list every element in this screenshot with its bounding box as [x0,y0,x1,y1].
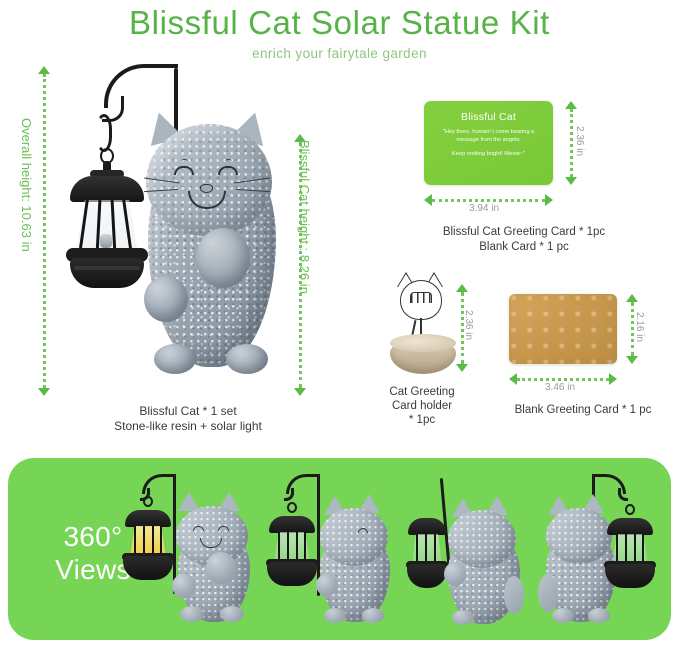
mini-cat-eye-right [358,528,368,533]
arrow-up-icon [565,101,577,109]
main-product-caption-line1: Blissful Cat * 1 set [78,404,298,418]
card-holder-caption-line3: * 1pc [362,414,482,426]
mini-cat-eye-right [218,526,229,531]
blank-greeting-card-image [509,294,617,364]
mini-lantern-base [407,564,447,588]
mini-lantern-base [123,556,173,580]
mini-lantern-roof [607,518,653,535]
measure-dotted-line [517,378,609,381]
mini-cat-paw-grip [316,574,338,596]
cat-eye-right [218,166,238,175]
cat-foot-right [226,344,268,374]
blissful-cat-greeting-card: Blissful Cat "Hey there, human! I come b… [424,101,553,185]
cat-brow-right [225,159,232,163]
solar-lantern [64,148,150,290]
greeting-card-title: Blissful Cat [424,111,553,123]
greeting-card-message-line3: Keep smiling bright! Meow~" [424,150,553,158]
mini-cat-foot-right [362,608,384,623]
mini-cat-foot-left [324,608,346,623]
greeting-card-message-line1: "Hey there, human! I come bearing a [424,128,553,136]
mini-cat-head [320,508,388,566]
mini-lantern-roof [269,516,315,533]
mini-lantern-ring [143,496,153,507]
cat-greeting-card-holder-image [386,280,458,378]
view-thumbnail-4 [530,470,679,630]
arrow-down-icon [626,356,638,364]
arrow-right-icon [545,194,553,206]
mini-cat-foot-left [552,608,574,623]
mini-lantern-base [267,562,317,586]
cat-paw-upper [196,228,250,288]
mini-lantern-roof [408,518,446,535]
measure-dotted-line [43,74,46,388]
mini-cat-head-back [546,508,612,564]
mini-cat-eye-left [193,526,204,531]
s-hook-icon [96,114,112,152]
lantern-roof [70,176,144,202]
arrow-left-icon [509,373,517,385]
view-thumbnail-2 [262,470,412,630]
mini-lantern [122,496,174,584]
card-holder-caption-line2: Card holder [362,400,482,412]
mini-cat-paw-upper [206,552,236,584]
main-product-caption-line2: Stone-like resin + solar light [68,419,308,433]
mini-lantern-ring [287,502,297,513]
mini-hook-tip [284,488,294,501]
mini-cat-tail [504,576,524,614]
card-holder-caption-line1: Cat Greeting [362,386,482,398]
mini-lantern [266,502,318,590]
blissful-cat-statue-image [48,62,300,398]
greeting-card-message-line2: message from the angels: [424,136,553,144]
mini-lantern-base [605,564,655,588]
page-title: Blissful Cat Solar Statue Kit [0,0,679,42]
page-subtitle: enrich your fairytale garden [0,42,679,61]
holder-clip-crown [410,292,432,303]
cat-eye-left [174,166,194,175]
blank-card-width-label: 3.46 in [545,382,575,393]
arrow-left-icon [424,194,432,206]
mini-cat-foot-left [452,610,474,625]
mini-cat-paw-grip [444,562,466,586]
mini-lantern-roof [125,510,171,527]
arrow-down-icon [565,177,577,185]
overall-height-label: Overall height: 10.63 in [19,118,34,252]
mini-cat-foot-right [220,606,244,622]
blank-card-height-label: 2.16 in [634,312,645,342]
measure-dotted-line [432,199,545,202]
mini-cat-foot-left [180,606,204,622]
cat-brow-left [181,159,188,163]
mini-lantern-ring [625,504,635,515]
arrow-down-icon [456,364,468,372]
mini-cat-tail [538,574,558,612]
greeting-card-height-label: 2.36 in [574,126,585,156]
mini-cat-head-back [448,510,516,568]
view-thumbnail-1 [120,470,270,630]
lantern-base-rim [74,266,140,270]
greeting-card-caption-line1: Blissful Cat Greeting Card * 1pc [399,226,649,238]
cat-foot-left [154,344,196,374]
mini-lantern [604,504,656,592]
arrow-up-icon [626,294,638,302]
measure-dotted-line [570,109,573,177]
greeting-card-caption-line2: Blank Card * 1 pc [399,241,649,253]
blank-card-caption: Blank Greeting Card * 1 pc [493,404,673,416]
arrow-right-icon [609,373,617,385]
mini-cat-paw-grip [172,574,196,598]
cat-paw-gripping-pole [144,276,188,322]
mini-cat-foot-right [588,608,610,623]
arrow-up-icon [456,284,468,292]
greeting-card-width-label: 3.94 in [469,203,499,214]
lantern-base [70,258,144,288]
holder-wooden-base-top [390,334,456,352]
mini-hook-tip [618,488,628,501]
card-holder-height-label: 2.36 in [463,310,474,340]
header: Blissful Cat Solar Statue Kit enrich you… [0,0,679,64]
lantern-bulb [100,234,112,248]
